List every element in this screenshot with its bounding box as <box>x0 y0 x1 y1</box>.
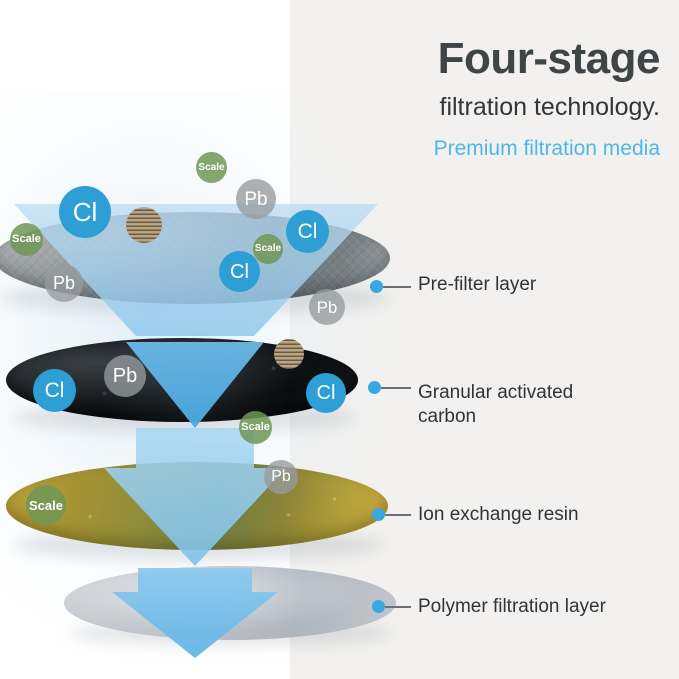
contaminant-bubble-sediment-2 <box>274 339 304 369</box>
contaminant-bubble-pb-4: Pb <box>104 355 146 397</box>
contaminant-bubble-cl-3: Cl <box>219 251 260 292</box>
layer-label-polymer-filtration-layer: Polymer filtration layer <box>418 595 606 619</box>
layer-label-line-2: carbon <box>418 405 638 429</box>
contaminant-bubble-scale-5: Scale <box>26 485 66 525</box>
contaminant-bubble-cl-4: Cl <box>33 369 76 412</box>
layer-label-granular-activated-carbon: Granular activated carbon <box>418 381 638 429</box>
page-tagline: Premium filtration media <box>320 136 660 161</box>
callout-leader-ion-exchange-resin <box>385 514 411 516</box>
contaminant-bubble-sediment-1 <box>126 207 162 243</box>
callout-dot-polymer-filtration-layer <box>372 600 385 613</box>
contaminant-bubble-pb-2: Pb <box>45 264 83 302</box>
callout-dot-ion-exchange-resin <box>372 508 385 521</box>
contaminant-bubble-scale-1: Scale <box>196 152 227 183</box>
layer-label-pre-filter: Pre-filter layer <box>418 273 536 297</box>
infographic-canvas: Four-stage filtration technology. Premiu… <box>0 0 679 679</box>
contaminant-bubble-pb-3: Pb <box>309 289 345 325</box>
page-title-text: Four-stage <box>438 34 660 83</box>
contaminant-bubble-scale-2: Scale <box>10 223 43 256</box>
callout-dot-granular-activated-carbon <box>368 381 381 394</box>
contaminant-bubble-scale-3: Scale <box>253 234 283 264</box>
contaminant-bubble-cl-1: Cl <box>59 186 111 238</box>
layer-label-line-1: Granular activated <box>418 381 638 405</box>
callout-dot-pre-filter <box>370 280 383 293</box>
contaminant-bubble-pb-1: Pb <box>236 179 276 219</box>
layer-disc-polymer-filtration-layer <box>64 566 396 640</box>
callout-leader-granular-activated-carbon <box>381 387 411 389</box>
callout-leader-pre-filter <box>383 286 411 288</box>
contaminant-bubble-pb-5: Pb <box>264 460 298 494</box>
layer-label-ion-exchange-resin: Ion exchange resin <box>418 503 579 527</box>
title-block: Four-stage filtration technology. Premiu… <box>320 36 660 161</box>
contaminant-bubble-cl-2: Cl <box>286 210 329 253</box>
page-title: Four-stage <box>438 36 660 82</box>
contaminant-bubble-cl-5: Cl <box>306 373 346 413</box>
contaminant-bubble-scale-4: Scale <box>239 411 272 444</box>
page-subtitle: filtration technology. <box>320 92 660 122</box>
callout-leader-polymer-filtration-layer <box>385 606 411 608</box>
